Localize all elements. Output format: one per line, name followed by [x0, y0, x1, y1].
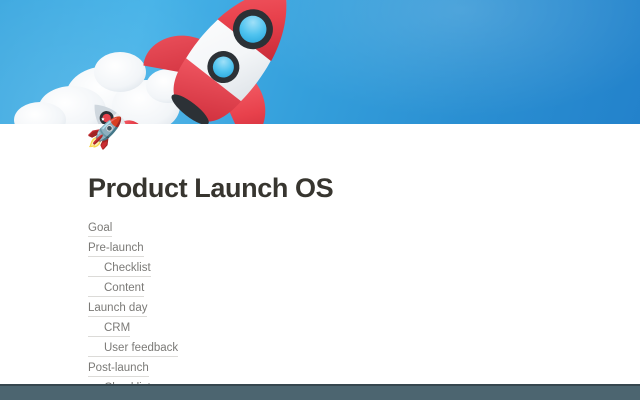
bottom-bar [0, 384, 640, 400]
list-item: Checklist [88, 257, 568, 277]
toc-link-pre-launch[interactable]: Pre-launch [88, 241, 144, 257]
toc-link-user-feedback[interactable]: User feedback [88, 341, 178, 357]
rocket-cover-illustration [0, 0, 640, 124]
page-cover[interactable] [0, 0, 640, 124]
page-root: 🚀 Product Launch OS Goal Pre-launch Chec… [0, 0, 640, 400]
list-item: CRM [88, 317, 568, 337]
toc-link-content[interactable]: Content [88, 281, 144, 297]
toc-link-checklist-pre-launch[interactable]: Checklist [88, 261, 151, 277]
page-title: Product Launch OS [88, 172, 333, 204]
list-item: Pre-launch [88, 237, 568, 257]
list-item: Post-launch [88, 357, 568, 377]
toc-link-goal[interactable]: Goal [88, 221, 112, 237]
list-item: Goal [88, 217, 568, 237]
list-item: User feedback [88, 337, 568, 357]
toc-link-post-launch[interactable]: Post-launch [88, 361, 149, 377]
toc-link-crm[interactable]: CRM [88, 321, 130, 337]
list-item: Launch day [88, 297, 568, 317]
page-content: Product Launch OS Goal Pre-launch Checkl… [0, 124, 640, 400]
page-icon[interactable]: 🚀 [86, 116, 122, 152]
toc-link-launch-day[interactable]: Launch day [88, 301, 147, 317]
list-item: Content [88, 277, 568, 297]
table-of-contents: Goal Pre-launch Checklist Content Launch… [88, 217, 568, 397]
